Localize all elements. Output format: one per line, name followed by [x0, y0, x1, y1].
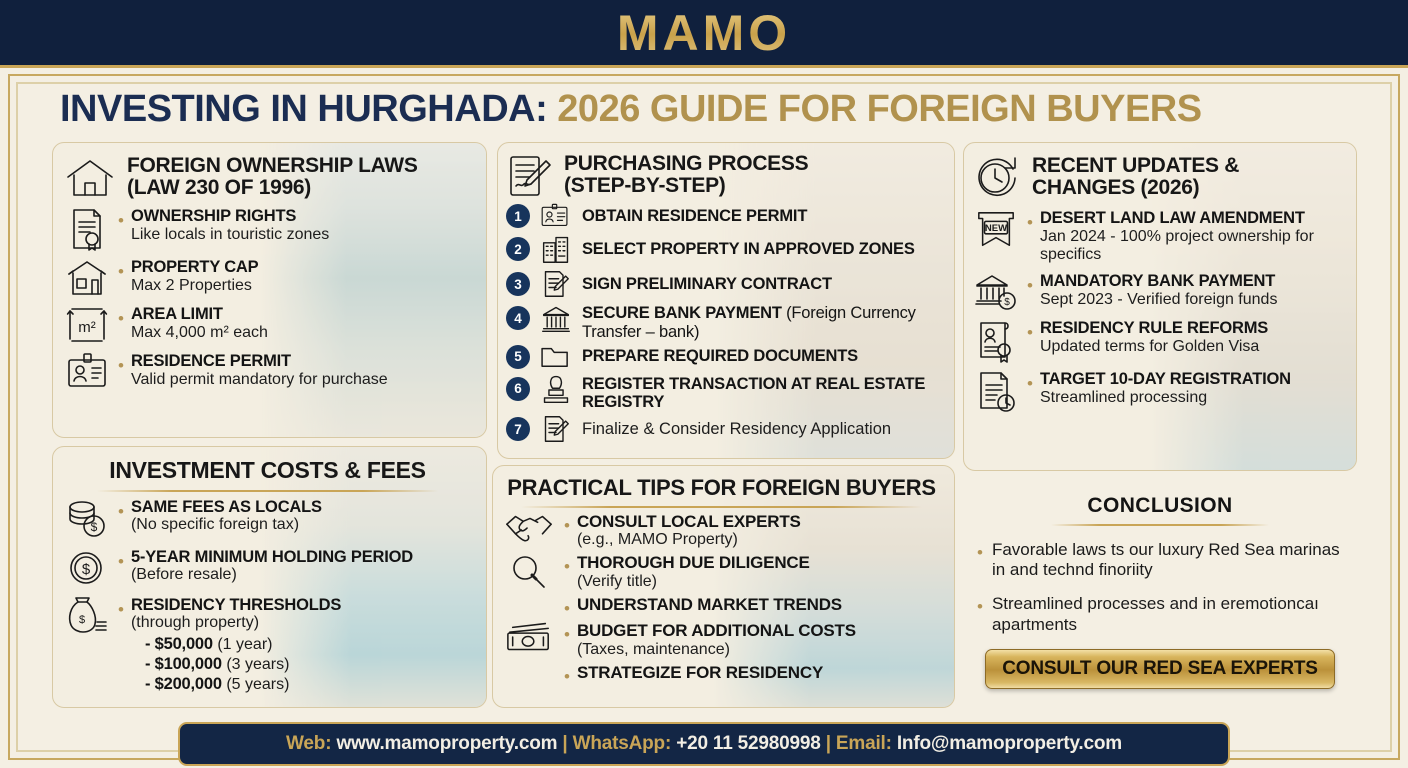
- step-title: SELECT PROPERTY IN APPROVED ZONES: [582, 240, 942, 259]
- card-foreign-ownership-laws: FOREIGN OWNERSHIP LAWS (LAW 230 OF 1996)…: [52, 142, 487, 438]
- item-subtitle: Updated terms for Golden Visa: [1040, 338, 1346, 357]
- item-subtitle: (Before resale): [131, 566, 472, 585]
- bullet-dot: •: [564, 553, 570, 575]
- card-title-line1: RECENT UPDATES &: [1032, 155, 1239, 177]
- item-subtitle: Valid permit mandatory for purchase: [131, 371, 472, 390]
- page-title-part2: 2026 GUIDE FOR FOREIGN BUYERS: [557, 88, 1201, 130]
- step-number: 7: [506, 417, 530, 441]
- process-step: 3 SIGN PRELIMINARY CONTRACT: [506, 269, 942, 299]
- svg-text:m²: m²: [78, 319, 96, 336]
- list-item: NEW • DESERT LAND LAW AMENDMENT Jan 2024…: [972, 209, 1346, 265]
- id-card-icon: [63, 352, 111, 390]
- list-item: • UNDERSTAND MARKET TRENDS: [501, 595, 942, 617]
- footer-contact-line: Web: www.mamoproperty.com | WhatsApp: +2…: [286, 733, 1122, 755]
- bullet-dot: •: [118, 305, 124, 327]
- item-title: MANDATORY BANK PAYMENT: [1040, 272, 1346, 291]
- whatsapp-value[interactable]: +20 11 52980998: [676, 733, 820, 754]
- list-item: • RESIDENCY RULE REFORMS Updated terms f…: [972, 319, 1346, 363]
- bullet-dot: •: [1027, 272, 1033, 294]
- new-ribbon-icon: NEW: [972, 209, 1020, 251]
- item-subtitle: Streamlined processing: [1040, 389, 1346, 408]
- list-item: $ • RESIDENCY THRESHOLDS (through proper…: [63, 596, 472, 695]
- item-subtitle: (No specific foreign tax): [131, 516, 472, 535]
- bullet-dot: •: [1027, 209, 1033, 231]
- step-number: 6: [506, 377, 530, 401]
- buildings-icon: [537, 234, 575, 264]
- list-item: • PROPERTY CAP Max 2 Properties: [63, 258, 472, 298]
- threshold-row: - $200,000 (5 years): [145, 675, 472, 695]
- bank-dollar-icon: $: [972, 272, 1020, 312]
- stamp-icon: [537, 375, 575, 405]
- contact-footer: Web: www.mamoproperty.com | WhatsApp: +2…: [178, 722, 1230, 766]
- conclusion-section: CONCLUSION • Favorable laws ts our luxur…: [963, 494, 1357, 706]
- conclusion-bullet: • Favorable laws ts our luxury Red Sea m…: [977, 540, 1343, 581]
- threshold-period: (5 years): [226, 676, 289, 693]
- step-title: SIGN PRELIMINARY CONTRACT: [582, 275, 942, 294]
- step-number: 5: [506, 345, 530, 369]
- magnifier-icon: [501, 553, 557, 591]
- item-title: AREA LIMIT: [131, 305, 472, 324]
- card-title-line2: CHANGES (2026): [1032, 177, 1239, 199]
- step-number: 4: [506, 306, 530, 330]
- step-number: 3: [506, 272, 530, 296]
- card-title-line2: (LAW 230 OF 1996): [127, 177, 418, 199]
- email-label: Email:: [836, 733, 892, 754]
- conclusion-bullet: • Streamlined processes and in eremotion…: [977, 594, 1343, 635]
- threshold-row: - $50,000 (1 year): [145, 635, 472, 655]
- item-title: 5-YEAR MINIMUM HOLDING PERIOD: [131, 548, 472, 567]
- bullet-dot: •: [564, 621, 570, 643]
- item-title: RESIDENCY RULE REFORMS: [1040, 319, 1346, 338]
- svg-text:$: $: [79, 614, 85, 626]
- card-header: PURCHASING PROCESS (STEP-BY-STEP): [506, 153, 942, 199]
- area-square-meter-icon: m²: [63, 305, 111, 345]
- brand-header: MAMO: [0, 0, 1408, 68]
- card-title: INVESTMENT COSTS & FEES: [63, 457, 472, 484]
- process-step: 4 SECURE BANK PAYMENT (Foreign Currency …: [506, 304, 942, 342]
- item-title: STRATEGIZE FOR RESIDENCY: [577, 663, 942, 682]
- threshold-period: (1 year): [217, 636, 272, 653]
- item-title: OWNERSHIP RIGHTS: [131, 207, 472, 226]
- bullet-dot: •: [564, 663, 570, 685]
- bank-icon: [537, 304, 575, 334]
- item-subtitle: Like locals in touristic zones: [131, 226, 472, 245]
- item-subtitle: (through property): [131, 614, 472, 633]
- contract-pen-icon: [537, 414, 575, 444]
- email-value[interactable]: Info@mamoproperty.com: [897, 733, 1122, 754]
- card-purchasing-process: PURCHASING PROCESS (STEP-BY-STEP) 1 OBTA…: [497, 142, 955, 459]
- item-subtitle: (Taxes, maintenance): [577, 641, 942, 660]
- bullet-dot: •: [118, 352, 124, 374]
- card-practical-tips: PRACTICAL TIPS FOR FOREIGN BUYERS • CONS…: [492, 465, 955, 708]
- process-step: 6 REGISTER TRANSACTION AT REAL ESTATE RE…: [506, 375, 942, 413]
- coins-stack-icon: $: [63, 498, 111, 540]
- document-clock-icon: [972, 370, 1020, 414]
- bullet-dot: •: [1027, 370, 1033, 392]
- svg-text:$: $: [1004, 297, 1010, 308]
- process-step: 2 SELECT PROPERTY IN APPROVED ZONES: [506, 234, 942, 264]
- threshold-amount: - $100,000: [145, 655, 222, 673]
- whatsapp-label: WhatsApp:: [573, 733, 671, 754]
- step-number: 1: [506, 204, 530, 228]
- step-title-text: SECURE BANK PAYMENT: [582, 304, 782, 322]
- list-item: • RESIDENCE PERMIT Valid permit mandator…: [63, 352, 472, 390]
- header-divider: [521, 506, 922, 508]
- list-item: $ • SAME FEES AS LOCALS (No specific for…: [63, 498, 472, 540]
- bullet-dot: •: [564, 595, 570, 617]
- item-title: CONSULT LOCAL EXPERTS: [577, 512, 942, 531]
- item-title: TARGET 10-DAY REGISTRATION: [1040, 370, 1346, 389]
- item-title: SAME FEES AS LOCALS: [131, 498, 472, 517]
- item-title: UNDERSTAND MARKET TRENDS: [577, 595, 942, 614]
- item-title: BUDGET FOR ADDITIONAL COSTS: [577, 621, 942, 640]
- bullet-dot: •: [118, 548, 124, 570]
- card-header: RECENT UPDATES & CHANGES (2026): [972, 155, 1346, 201]
- card-title-line1: PURCHASING PROCESS: [564, 153, 808, 175]
- list-item: • CONSULT LOCAL EXPERTS (e.g., MAMO Prop…: [501, 512, 942, 550]
- clock-refresh-icon: [972, 155, 1022, 201]
- svg-text:$: $: [82, 561, 91, 578]
- certificate-seal-icon: [972, 319, 1020, 363]
- separator-1: |: [562, 733, 567, 754]
- bullet-dot: •: [118, 258, 124, 280]
- conclusion-divider: [1051, 524, 1269, 526]
- web-value[interactable]: www.mamoproperty.com: [336, 733, 557, 754]
- item-subtitle: Max 4,000 m² each: [131, 324, 472, 343]
- list-item: $ • 5-YEAR MINIMUM HOLDING PERIOD (Befor…: [63, 548, 472, 588]
- money-bag-icon: $: [63, 596, 111, 638]
- step-title: SECURE BANK PAYMENT (Foreign Currency Tr…: [582, 304, 942, 342]
- card-header: FOREIGN OWNERSHIP LAWS (LAW 230 OF 1996): [63, 155, 472, 201]
- id-card-icon: [537, 203, 575, 229]
- brand-logo: MAMO: [617, 4, 791, 62]
- home-icon: [63, 155, 117, 201]
- page-title: INVESTING IN HURGHADA: 2026 GUIDE FOR FO…: [60, 88, 1350, 136]
- step-number: 2: [506, 237, 530, 261]
- svg-text:NEW: NEW: [985, 223, 1007, 234]
- item-title: DESERT LAND LAW AMENDMENT: [1040, 209, 1346, 228]
- item-subtitle: Max 2 Properties: [131, 277, 472, 296]
- item-subtitle: (Verify title): [577, 573, 942, 592]
- dollar-coin-icon: $: [63, 548, 111, 588]
- step-title: OBTAIN RESIDENCE PERMIT: [582, 207, 942, 226]
- contract-pen-icon: [506, 153, 554, 199]
- bullet-dot: •: [564, 512, 570, 534]
- item-title: RESIDENCY THRESHOLDS: [131, 596, 472, 615]
- bullet-dot: •: [118, 498, 124, 520]
- list-item: • OWNERSHIP RIGHTS Like locals in touris…: [63, 207, 472, 251]
- header-divider: [97, 490, 438, 492]
- list-item: • BUDGET FOR ADDITIONAL COSTS (Taxes, ma…: [501, 621, 942, 659]
- card-title-line1: FOREIGN OWNERSHIP LAWS: [127, 155, 418, 177]
- item-title: PROPERTY CAP: [131, 258, 472, 277]
- threshold-row: - $100,000 (3 years): [145, 655, 472, 675]
- handshake-icon: [501, 512, 557, 546]
- list-item: m² • AREA LIMIT Max 4,000 m² each: [63, 305, 472, 345]
- folder-icon: [537, 344, 575, 370]
- process-step: 5 PREPARE REQUIRED DOCUMENTS: [506, 344, 942, 370]
- bullet-dot: •: [1027, 319, 1033, 341]
- card-title: PRACTICAL TIPS FOR FOREIGN BUYERS: [501, 475, 942, 501]
- bullet-dot: •: [977, 594, 983, 615]
- separator-2: |: [826, 733, 831, 754]
- item-subtitle: Jan 2024 - 100% project ownership for sp…: [1040, 228, 1346, 265]
- conclusion-title: CONCLUSION: [977, 494, 1343, 518]
- item-subtitle: (e.g., MAMO Property): [577, 531, 942, 550]
- svg-text:$: $: [91, 520, 98, 534]
- contract-pen-icon: [537, 269, 575, 299]
- step-title: PREPARE REQUIRED DOCUMENTS: [582, 347, 942, 366]
- bullet-dot: •: [118, 207, 124, 229]
- certificate-document-icon: [63, 207, 111, 251]
- bullet-dot: •: [118, 596, 124, 618]
- item-title: RESIDENCE PERMIT: [131, 352, 472, 371]
- list-item: • TARGET 10-DAY REGISTRATION Streamlined…: [972, 370, 1346, 414]
- page-title-part1: INVESTING IN HURGHADA:: [60, 88, 557, 130]
- card-title-line2: (STEP-BY-STEP): [564, 175, 808, 197]
- item-subtitle: Sept 2023 - Verified foreign funds: [1040, 291, 1346, 310]
- conclusion-bullet-text: Streamlined processes and in eremotionca…: [992, 594, 1343, 635]
- web-label: Web:: [286, 733, 331, 754]
- consult-experts-button[interactable]: CONSULT OUR RED SEA EXPERTS: [985, 649, 1335, 689]
- list-item: • STRATEGIZE FOR RESIDENCY: [501, 663, 942, 685]
- banknote-icon: [501, 621, 557, 653]
- card-recent-updates: RECENT UPDATES & CHANGES (2026) NEW • DE…: [963, 142, 1357, 471]
- list-item: • THOROUGH DUE DILIGENCE (Verify title): [501, 553, 942, 591]
- list-item: $ • MANDATORY BANK PAYMENT Sept 2023 - V…: [972, 272, 1346, 312]
- bullet-dot: •: [977, 540, 983, 561]
- item-title: THOROUGH DUE DILIGENCE: [577, 553, 942, 572]
- card-investment-costs: INVESTMENT COSTS & FEES $ • SAME FEES AS…: [52, 446, 487, 708]
- threshold-period: (3 years): [226, 656, 289, 673]
- house-icon: [63, 258, 111, 298]
- process-step: 7 Finalize & Consider Residency Applicat…: [506, 414, 942, 444]
- step-title: REGISTER TRANSACTION AT REAL ESTATE REGI…: [582, 375, 942, 413]
- conclusion-bullet-text: Favorable laws ts our luxury Red Sea mar…: [992, 540, 1343, 581]
- threshold-amount: - $200,000: [145, 675, 222, 693]
- step-title: Finalize & Consider Residency Applicatio…: [582, 420, 942, 439]
- threshold-amount: - $50,000: [145, 635, 213, 653]
- process-step: 1 OBTAIN RESIDENCE PERMIT: [506, 203, 942, 229]
